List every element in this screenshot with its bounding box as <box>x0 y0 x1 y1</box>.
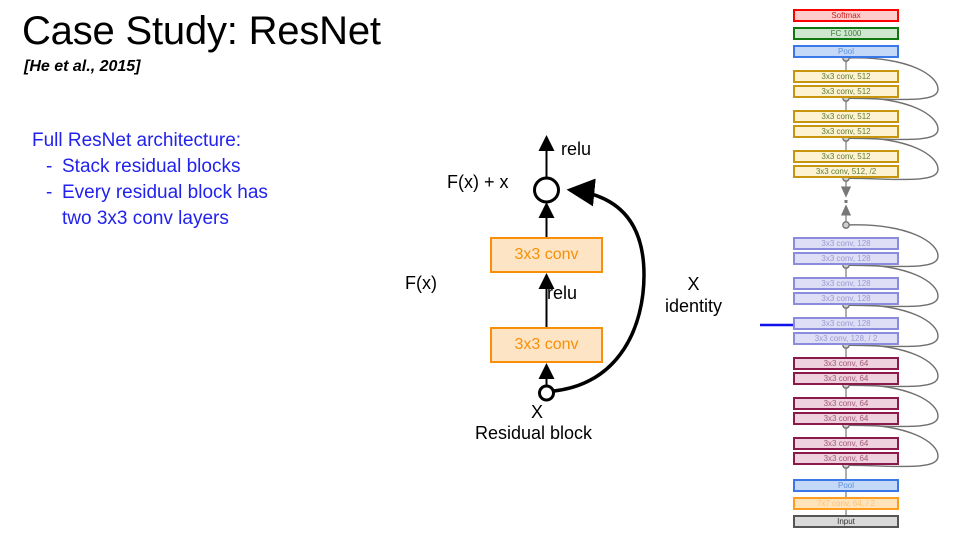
identity-label-x: X <box>665 273 722 295</box>
relu-label-mid: relu <box>547 283 577 304</box>
stack-layer: 3x3 conv, 128 <box>793 252 899 265</box>
stack-layer: 3x3 conv, 128 <box>793 317 899 330</box>
bullet-heading: Full ResNet architecture: <box>32 128 362 154</box>
input-label-x: X <box>531 402 543 423</box>
stack-layer: 3x3 conv, 64 <box>793 437 899 450</box>
stack-layer: Input <box>793 515 899 528</box>
stack-layer: 3x3 conv, 512 <box>793 125 899 138</box>
stack-layer: 3x3 conv, 64 <box>793 452 899 465</box>
stack-layer: 3x3 conv, 512 <box>793 70 899 83</box>
residual-block-diagram: 3x3 conv 3x3 conv relu F(x) + x relu F(x… <box>395 125 725 465</box>
identity-label-word: identity <box>665 295 722 317</box>
stack-layer: 3x3 conv, 128 <box>793 292 899 305</box>
stack-layer: 3x3 conv, 64 <box>793 357 899 370</box>
bullet-dash-icon: - <box>32 180 62 206</box>
bullet-item-group: Every residual block has two 3x3 conv la… <box>62 180 268 232</box>
stack-layer: Pool <box>793 479 899 492</box>
stack-layer: 3x3 conv, 64 <box>793 397 899 410</box>
bullet-dash-icon: - <box>32 154 62 180</box>
conv-box-bottom: 3x3 conv <box>490 327 603 363</box>
residual-block-caption: Residual block <box>475 423 592 444</box>
list-item: - Every residual block has two 3x3 conv … <box>32 180 362 232</box>
stack-layer: 3x3 conv, 64 <box>793 372 899 385</box>
page-title: Case Study: ResNet <box>22 8 381 54</box>
bullet-list: Full ResNet architecture: - Stack residu… <box>32 128 362 232</box>
identity-label: X identity <box>665 273 722 317</box>
stack-layer: Softmax <box>793 9 899 22</box>
branch-label-fx: F(x) <box>405 273 437 294</box>
stack-layer: 3x3 conv, 128 <box>793 277 899 290</box>
stack-layer: 3x3 conv, 512 <box>793 85 899 98</box>
stack-layer: 3x3 conv, 128 <box>793 237 899 250</box>
sum-output-label: F(x) + x <box>447 172 509 193</box>
citation-text: [He et al., 2015] <box>24 58 141 76</box>
resnet-architecture-stack: SoftmaxFC 1000Pool3x3 conv, 5123x3 conv,… <box>760 0 969 545</box>
stack-layer: 3x3 conv, 512, /2 <box>793 165 899 178</box>
bullet-item-label-cont: two 3x3 conv layers <box>62 206 268 232</box>
stack-layer: FC 1000 <box>793 27 899 40</box>
ellipsis-dots <box>845 200 848 210</box>
stack-layer: 3x3 conv, 128, / 2 <box>793 332 899 345</box>
bullet-item-label: Stack residual blocks <box>62 154 240 180</box>
identity-bracket <box>760 141 793 468</box>
bullet-item-label: Every residual block has <box>62 180 268 206</box>
relu-label-top: relu <box>561 139 591 160</box>
stack-layer: 3x3 conv, 512 <box>793 110 899 123</box>
conv-box-top: 3x3 conv <box>490 237 603 273</box>
stack-layer: Pool <box>793 45 899 58</box>
stack-layer: 3x3 conv, 64 <box>793 412 899 425</box>
stack-layer: 7x7 conv, 64, / 2 <box>793 497 899 510</box>
list-item: - Stack residual blocks <box>32 154 362 180</box>
stack-layer: 3x3 conv, 512 <box>793 150 899 163</box>
